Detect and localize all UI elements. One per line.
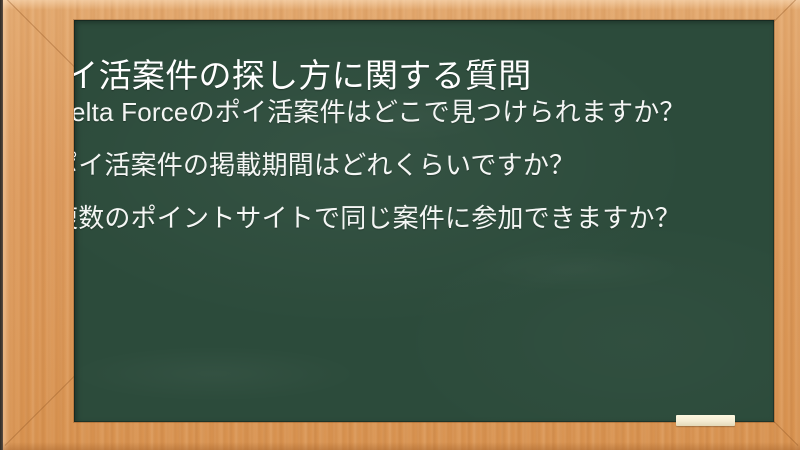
chalkboard-surface: ポイ活案件の探し方に関する質問 Delta Forceのポイ活案件はどこで見つけ… bbox=[74, 20, 774, 422]
chalkboard-slide: ポイ活案件の探し方に関する質問 Delta Forceのポイ活案件はどこで見つけ… bbox=[0, 0, 800, 450]
frame-left-highlight bbox=[3, 0, 12, 450]
question-list: Delta Forceのポイ活案件はどこで見つけられますか？ ポイ活案件の掲載期… bbox=[74, 94, 712, 253]
question-item-2: ポイ活案件の掲載期間はどれくらいですか？ bbox=[74, 147, 712, 184]
question-item-3: 複数のポイントサイトで同じ案件に参加できますか？ bbox=[74, 200, 712, 237]
frame-bottom-shadow bbox=[3, 442, 800, 450]
question-item-1: Delta Forceのポイ活案件はどこで見つけられますか？ bbox=[74, 94, 712, 131]
chalk-stick bbox=[676, 415, 735, 426]
board-title: ポイ活案件の探し方に関する質問 bbox=[74, 55, 762, 96]
frame-top-highlight bbox=[3, 0, 800, 10]
